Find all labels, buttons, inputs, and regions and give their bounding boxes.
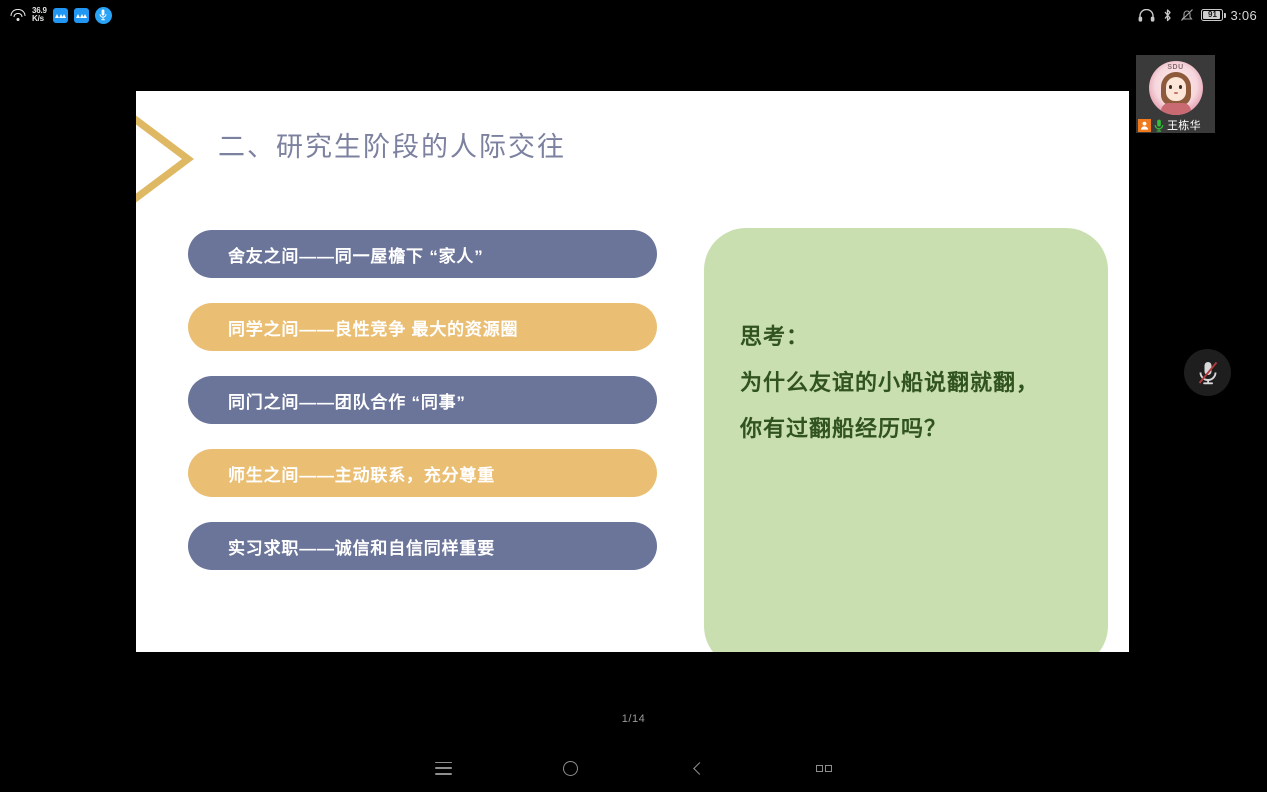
list-item-label: 师生之间——主动联系，充分尊重 xyxy=(228,461,495,486)
list-item: 舍友之间——同一屋檐下 “家人” xyxy=(188,230,657,278)
menu-button[interactable] xyxy=(380,744,507,792)
list-item: 同门之间——团队合作 “同事” xyxy=(188,376,657,424)
battery-indicator: 91 xyxy=(1201,9,1223,21)
home-button[interactable] xyxy=(507,744,634,792)
avatar: SDU xyxy=(1149,61,1203,115)
microphone-icon[interactable] xyxy=(95,7,112,24)
question-card-line: 你有过翻船经历吗？ xyxy=(740,406,1108,452)
list-item: 同学之间——良性竞争 最大的资源圈 xyxy=(188,303,657,351)
list-item: 实习求职——诚信和自信同样重要 xyxy=(188,522,657,570)
avatar-label: SDU xyxy=(1149,64,1203,71)
navigation-bar xyxy=(0,744,1267,792)
home-icon xyxy=(563,761,578,776)
menu-icon xyxy=(435,762,452,775)
headphone-icon xyxy=(1138,9,1155,22)
bluetooth-icon xyxy=(1162,8,1173,23)
slide-title: 二、研究生阶段的人际交往 xyxy=(218,125,566,164)
list-item-label: 同学之间——良性竞争 最大的资源圈 xyxy=(228,315,518,340)
silent-mode-icon xyxy=(1180,8,1194,22)
page-indicator: 1/14 xyxy=(0,713,1267,725)
list-item-label: 同门之间——团队合作 “同事” xyxy=(228,388,466,413)
participant-video-tile[interactable]: SDU 王栋华 xyxy=(1136,55,1215,133)
recents-button[interactable] xyxy=(761,744,888,792)
question-card-line: 为什么友谊的小船说翻就翻， xyxy=(740,360,1108,406)
network-speed: 36.9 K/s xyxy=(32,7,47,23)
question-card-line: 思考： xyxy=(740,314,1108,360)
participant-name: 王栋华 xyxy=(1167,117,1201,133)
wifi-icon xyxy=(10,8,26,22)
presentation-slide[interactable]: 二、研究生阶段的人际交往 舍友之间——同一屋檐下 “家人” 同学之间——良性竞争… xyxy=(136,91,1129,652)
recents-icon xyxy=(816,765,833,772)
battery-level: 91 xyxy=(1208,11,1217,19)
status-bar: 36.9 K/s xyxy=(0,0,1267,30)
microphone-muted-icon[interactable] xyxy=(1184,349,1231,396)
network-speed-unit: K/s xyxy=(32,15,47,23)
back-icon xyxy=(693,762,706,775)
status-bar-left: 36.9 K/s xyxy=(10,7,112,24)
list-item-label: 舍友之间——同一屋檐下 “家人” xyxy=(228,242,484,267)
back-button[interactable] xyxy=(634,744,761,792)
clock: 3:06 xyxy=(1230,8,1257,23)
app-icon-1[interactable] xyxy=(53,8,68,23)
list-item: 师生之间——主动联系，充分尊重 xyxy=(188,449,657,497)
status-bar-right: 91 3:06 xyxy=(1138,8,1257,23)
person-icon xyxy=(1138,119,1151,132)
microphone-icon xyxy=(1154,119,1164,132)
list-item-label: 实习求职——诚信和自信同样重要 xyxy=(228,534,495,559)
participant-info: 王栋华 xyxy=(1136,117,1215,133)
question-card: 思考： 为什么友谊的小船说翻就翻， 你有过翻船经历吗？ xyxy=(704,228,1108,652)
app-icon-2[interactable] xyxy=(74,8,89,23)
screen-root: 36.9 K/s xyxy=(0,0,1267,792)
